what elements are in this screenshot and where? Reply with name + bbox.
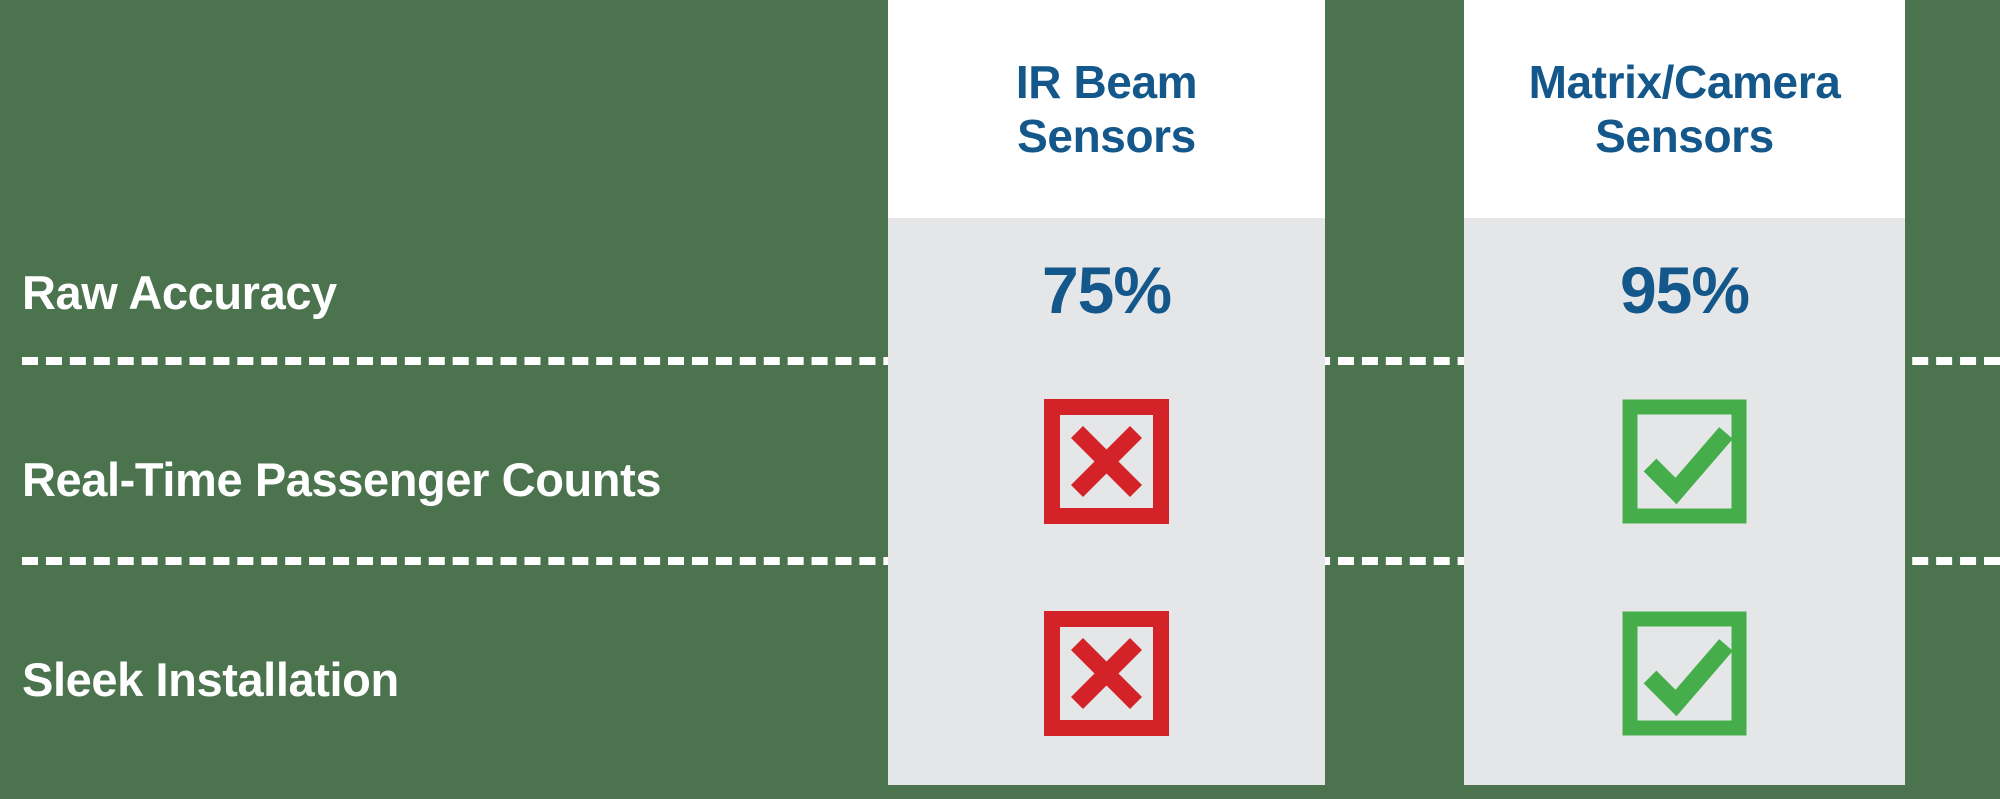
row-label-sleek-installation: Sleek Installation [22, 652, 399, 707]
cross-icon [1044, 399, 1169, 524]
accuracy-value: 75% [1042, 257, 1171, 323]
column-matrix-camera-sensors: Matrix/Camera Sensors 95% [1464, 0, 1905, 785]
column-header-line2: Sensors [1529, 109, 1841, 163]
cell-ir-raw-accuracy: 75% [888, 218, 1325, 361]
accuracy-value: 95% [1620, 257, 1749, 323]
cell-ir-sleek-installation [888, 561, 1325, 785]
cell-ir-real-time-passenger-counts [888, 361, 1325, 561]
check-icon [1622, 611, 1747, 736]
cell-matrix-real-time-passenger-counts [1464, 361, 1905, 561]
column-body-matrix-camera-sensors: 95% [1464, 218, 1905, 785]
row-label-real-time-passenger-counts: Real-Time Passenger Counts [22, 452, 661, 507]
cross-icon [1044, 611, 1169, 736]
column-header-line1: Matrix/Camera [1529, 55, 1841, 109]
column-header-line2: Sensors [1016, 109, 1197, 163]
row-label-raw-accuracy: Raw Accuracy [22, 265, 337, 320]
column-header-text: IR Beam Sensors [1016, 55, 1197, 164]
cell-matrix-raw-accuracy: 95% [1464, 218, 1905, 361]
column-header-ir-beam-sensors: IR Beam Sensors [888, 0, 1325, 218]
cell-matrix-sleek-installation [1464, 561, 1905, 785]
column-body-ir-beam-sensors: 75% [888, 218, 1325, 785]
column-header-line1: IR Beam [1016, 55, 1197, 109]
comparison-table: Raw Accuracy Real-Time Passenger Counts … [0, 0, 2000, 799]
column-ir-beam-sensors: IR Beam Sensors 75% [888, 0, 1325, 785]
check-icon [1622, 399, 1747, 524]
column-header-matrix-camera-sensors: Matrix/Camera Sensors [1464, 0, 1905, 218]
column-header-text: Matrix/Camera Sensors [1529, 55, 1841, 164]
